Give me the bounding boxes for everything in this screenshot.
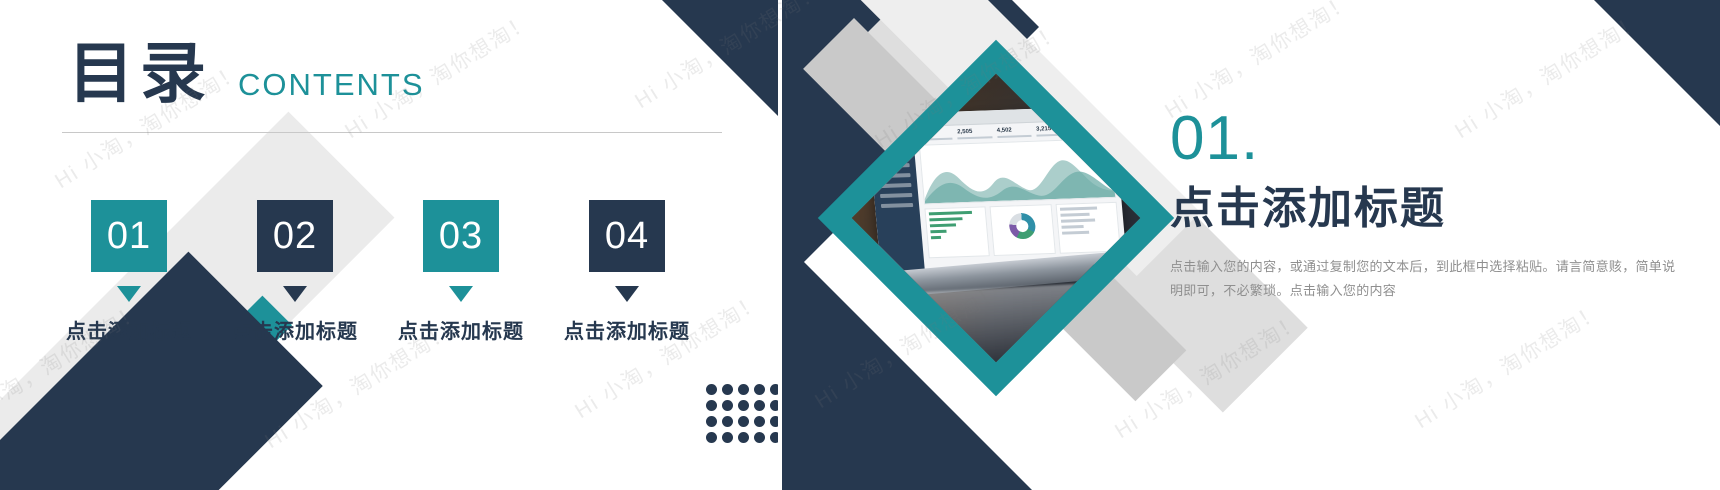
kpi-cell: 2,505: [957, 128, 992, 139]
dot: [722, 384, 733, 395]
kpi-value: 2,505: [957, 128, 992, 135]
list-item[interactable]: 01 点击添加标题: [62, 200, 196, 344]
section-number: 01.: [1170, 108, 1680, 170]
bar: [930, 223, 956, 227]
dot: [722, 400, 733, 411]
dot: [722, 416, 733, 427]
sidebar-row: [880, 193, 912, 198]
page-title-cn: 目录: [68, 40, 212, 106]
contents-list: 01 点击添加标题 02 点击添加标题 03 点击添加标题 04 点击添加标题: [62, 200, 694, 344]
contents-item-label: 点击添加标题: [564, 315, 690, 344]
kpi-underline: [958, 136, 993, 139]
screen-main: 1.51 2,505 4,502: [912, 120, 1127, 272]
kpi-cell: 1.51: [918, 130, 953, 141]
contents-number-badge: 02: [257, 200, 333, 272]
triangle-down-icon: [615, 286, 639, 302]
kpi-value: 1.51: [918, 130, 953, 137]
dot: [706, 432, 717, 443]
area-chart-svg: [921, 153, 1116, 204]
dot: [770, 416, 778, 427]
triangle-down-icon: [283, 286, 307, 302]
triangle-down-icon: [117, 286, 141, 302]
page-title: 目录 CONTENTS: [68, 40, 425, 106]
list-item[interactable]: 04 点击添加标题: [560, 200, 694, 344]
dot: [738, 384, 749, 395]
decor-corner-navy-left: [660, 0, 778, 118]
page-title-en: CONTENTS: [238, 69, 425, 106]
bar: [1061, 219, 1095, 223]
dot: [722, 432, 733, 443]
section-panel: 1.51 2,505 4,502: [782, 0, 1720, 490]
dot: [738, 400, 749, 411]
kpi-row: 1.51 2,505 4,502: [918, 124, 1111, 141]
dot: [770, 400, 778, 411]
kpi-cell: 4,502: [996, 127, 1031, 138]
dot: [738, 432, 749, 443]
text-list-card: [1055, 202, 1121, 254]
dot: [770, 384, 778, 395]
section-heading: 点击添加标题: [1170, 184, 1680, 235]
contents-panel: 目录 CONTENTS 01 点击添加标题 02 点击添加标题 03 点击添加标…: [0, 0, 778, 490]
triangle-down-icon: [449, 286, 473, 302]
sidebar-row: [877, 153, 909, 158]
screen-body: 1.51 2,505 4,502: [868, 120, 1127, 272]
donut-chart: [1008, 213, 1036, 240]
contents-item-label: 点击添加标题: [398, 315, 524, 344]
bar: [931, 236, 941, 239]
contents-number-badge: 04: [589, 200, 665, 272]
dot: [706, 384, 717, 395]
dot: [754, 384, 765, 395]
dot: [706, 416, 717, 427]
laptop-screen: 1.51 2,505 4,502: [867, 106, 1127, 272]
dot-grid-decor-left: [706, 384, 778, 443]
bar: [1061, 225, 1084, 229]
kpi-value: 3,215: [1036, 125, 1071, 132]
bar-list-card: [924, 206, 990, 258]
dot: [706, 400, 717, 411]
dot: [754, 416, 765, 427]
section-text-block: 01. 点击添加标题 点击输入您的内容，或通过复制您的文本后，到此框中选择粘贴。…: [1170, 108, 1680, 303]
contents-number-badge: 03: [423, 200, 499, 272]
kpi-underline: [1037, 133, 1072, 136]
sidebar-row: [879, 183, 911, 188]
area-chart-thumbnail: [919, 138, 1116, 204]
panel-separator: [778, 0, 782, 490]
bar: [1062, 231, 1090, 235]
title-divider: [62, 132, 722, 133]
dot: [754, 432, 765, 443]
bar: [1060, 206, 1098, 210]
kpi-underline: [918, 138, 953, 141]
kpi-cell: 3,215: [1036, 125, 1071, 136]
kpi-underline: [997, 135, 1032, 138]
presentation-slide: 目录 CONTENTS 01 点击添加标题 02 点击添加标题 03 点击添加标…: [0, 0, 1720, 490]
list-item[interactable]: 03 点击添加标题: [394, 200, 528, 344]
sidebar-row: [877, 163, 909, 168]
list-item[interactable]: 02 点击添加标题: [228, 200, 362, 344]
bar: [929, 217, 962, 221]
sidebar-row: [881, 203, 913, 208]
donut-chart-card: [990, 204, 1056, 256]
contents-item-label: 点击添加标题: [66, 315, 192, 344]
dot: [770, 432, 778, 443]
dashboard-card-row: [924, 202, 1121, 259]
kpi-value: 4,502: [996, 127, 1031, 134]
contents-number-badge: 01: [91, 200, 167, 272]
bar: [1060, 213, 1090, 217]
bar: [929, 211, 972, 215]
dot: [738, 416, 749, 427]
bar: [930, 230, 946, 234]
section-paragraph: 点击输入您的内容，或通过复制您的文本后，到此框中选择粘贴。请言简意赅，简单说明即…: [1170, 255, 1680, 303]
contents-item-label: 点击添加标题: [232, 315, 358, 344]
dot: [754, 400, 765, 411]
sidebar-row: [878, 173, 910, 178]
